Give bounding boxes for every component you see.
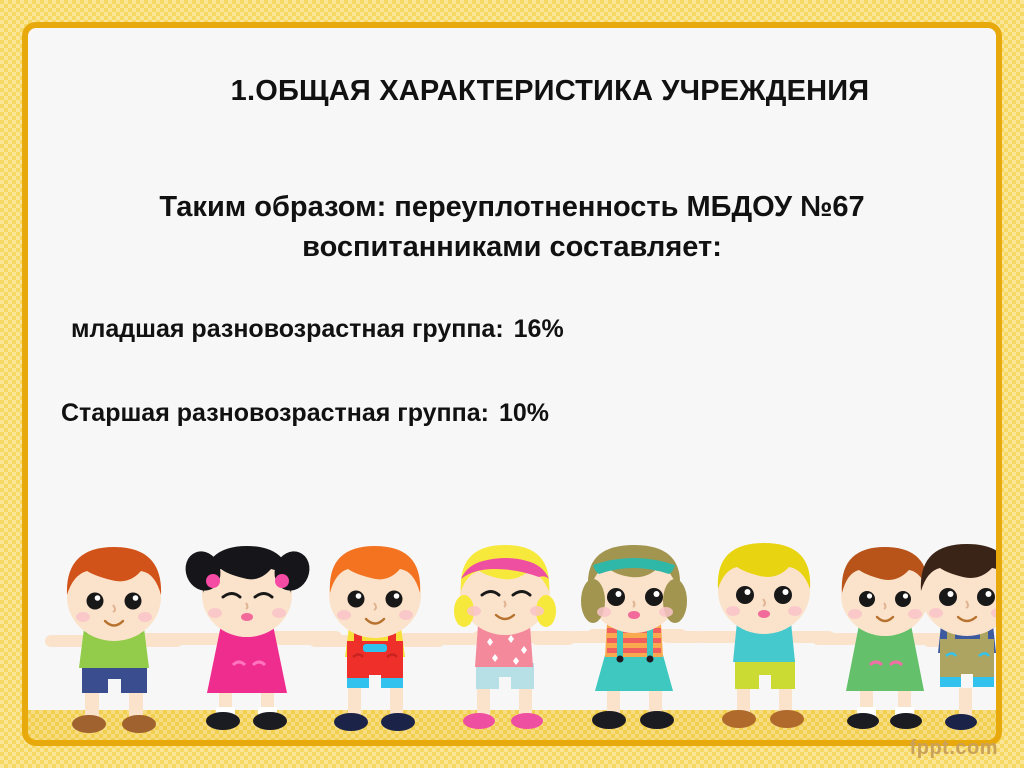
- page-title: 1.ОБЩАЯ ХАРАКТЕРИСТИКА УЧРЕЖДЕНИЯ: [140, 75, 960, 108]
- stat-value: 16%: [514, 315, 564, 343]
- stat-label: младшая разновозрастная группа:: [71, 315, 504, 343]
- slide-content-card: 1.ОБЩАЯ ХАРАКТЕРИСТИКА УЧРЕЖДЕНИЯ Таким …: [27, 27, 997, 741]
- kid-1: [45, 547, 183, 733]
- stat-row: Старшая разновозрастная группа:10%: [61, 399, 549, 428]
- kid-6: [699, 543, 835, 728]
- children-illustration: [27, 525, 997, 735]
- stat-label: Старшая разновозрастная группа:: [61, 399, 489, 427]
- stat-row: младшая разновозрастная группа:16%: [71, 315, 564, 344]
- kid-2: [179, 546, 317, 730]
- children-svg: [27, 525, 997, 735]
- fppt-watermark: fppt.com: [910, 737, 998, 760]
- stat-value: 10%: [499, 399, 549, 427]
- lead-statement: Таким образом: переуплотненность МБДОУ №…: [87, 187, 937, 267]
- kid-5: [569, 545, 705, 729]
- kid-8: [921, 544, 997, 730]
- kid-3: [309, 546, 445, 731]
- slide-canvas: 1.ОБЩАЯ ХАРАКТЕРИСТИКА УЧРЕЖДЕНИЯ Таким …: [0, 0, 1024, 768]
- kid-4: [439, 545, 575, 729]
